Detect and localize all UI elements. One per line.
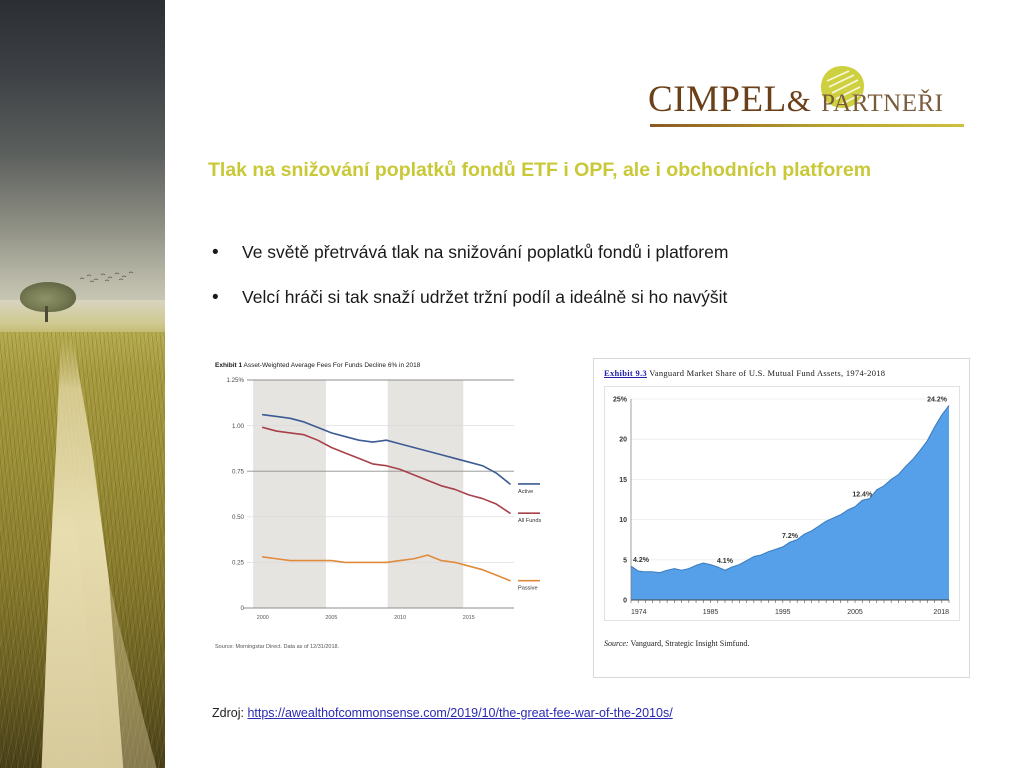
charts-row: Exhibit 1 Asset-Weighted Average Fees Fo… [215, 362, 970, 687]
source-line: Zdroj: https://awealthofcommonsense.com/… [212, 706, 673, 720]
svg-text:Passive: Passive [518, 586, 538, 592]
svg-text:2005: 2005 [847, 609, 863, 616]
chart-exhibit-9-3: Exhibit 9.3 Vanguard Market Share of U.S… [593, 358, 970, 678]
svg-text:2010: 2010 [394, 615, 406, 621]
tree-icon [20, 282, 76, 312]
svg-text:4.2%: 4.2% [633, 557, 650, 564]
bullet-text: Velcí hráči si tak snaží udržet tržní po… [242, 287, 727, 309]
logo-text: CIMPEL& PARTNEŘI [648, 78, 944, 121]
chart-left-title: Exhibit 1 Asset-Weighted Average Fees Fo… [215, 362, 570, 369]
page-title: Tlak na snižování poplatků fondů ETF i O… [208, 156, 908, 184]
svg-text:1995: 1995 [775, 609, 791, 616]
chart-right-title: Exhibit 9.3 Vanguard Market Share of U.S… [604, 367, 959, 380]
svg-text:2005: 2005 [325, 615, 337, 621]
chart-right-plot: 0510152025%197419851995200520184.2%4.1%7… [604, 386, 960, 621]
divider-stripe-3 [180, 0, 185, 768]
svg-text:1.25%: 1.25% [226, 377, 244, 384]
svg-text:1.00: 1.00 [232, 423, 245, 430]
logo-name-main: CIMPEL [648, 79, 787, 120]
svg-text:0: 0 [623, 597, 627, 604]
svg-text:2015: 2015 [463, 615, 475, 621]
svg-text:5: 5 [623, 557, 627, 564]
chart-right-exhibit-label: Exhibit 9.3 [604, 368, 647, 378]
list-item: • Ve světě přetrvává tlak na snižování p… [208, 242, 948, 265]
svg-text:15: 15 [619, 477, 627, 484]
chart-right-title-text: Vanguard Market Share of U.S. Mutual Fun… [649, 368, 885, 378]
chart-left-svg: 00.250.500.751.001.25%2000200520102015Ac… [215, 372, 570, 630]
bullet-list: • Ve světě přetrvává tlak na snižování p… [208, 242, 948, 332]
chart-left-plot: 00.250.500.751.001.25%2000200520102015Ac… [215, 372, 570, 630]
svg-text:2018: 2018 [933, 609, 949, 616]
svg-text:0.50: 0.50 [232, 514, 245, 521]
source-link[interactable]: https://awealthofcommonsense.com/2019/10… [247, 706, 672, 720]
bullet-text: Ve světě přetrvává tlak na snižování pop… [242, 242, 728, 264]
logo-ampersand: & [787, 83, 812, 118]
logo-name-sub: PARTNEŘI [821, 90, 943, 117]
company-logo: CIMPEL& PARTNEŘI [648, 72, 968, 134]
svg-text:10: 10 [619, 517, 627, 524]
chart-right-svg: 0510152025%197419851995200520184.2%4.1%7… [605, 387, 959, 620]
divider-stripe-2 [172, 0, 176, 768]
svg-text:12.4%: 12.4% [852, 491, 873, 498]
decorative-photo-band [0, 0, 165, 768]
chart-left-source: Source: Morningstar Direct. Data as of 1… [215, 644, 570, 650]
bullet-marker-icon: • [208, 287, 242, 310]
svg-text:25%: 25% [613, 396, 628, 403]
svg-text:7.2%: 7.2% [782, 533, 799, 540]
chart-left-title-text: Asset-Weighted Average Fees For Funds De… [244, 362, 421, 369]
svg-text:4.1%: 4.1% [717, 558, 734, 565]
svg-text:0.75: 0.75 [232, 468, 245, 475]
svg-text:1974: 1974 [631, 609, 647, 616]
bullet-marker-icon: • [208, 242, 242, 265]
svg-text:Active: Active [518, 489, 533, 495]
svg-text:20: 20 [619, 436, 627, 443]
tree-trunk [45, 306, 48, 322]
chart-right-source-text: Vanguard, Strategic Insight Simfund. [630, 639, 749, 648]
svg-text:2000: 2000 [257, 615, 269, 621]
source-label: Zdroj: [212, 706, 244, 720]
birds-icon [78, 270, 138, 286]
chart-exhibit-1: Exhibit 1 Asset-Weighted Average Fees Fo… [215, 362, 570, 682]
divider-stripe-1 [165, 0, 169, 768]
svg-text:1985: 1985 [703, 609, 719, 616]
svg-text:0: 0 [241, 605, 245, 612]
svg-text:All Funds: All Funds [518, 518, 542, 524]
logo-underline [650, 124, 964, 127]
chart-right-source: Source: Vanguard, Strategic Insight Simf… [604, 639, 959, 648]
chart-right-source-prefix: Source: [604, 639, 629, 648]
svg-text:0.25: 0.25 [232, 560, 245, 567]
chart-left-exhibit-label: Exhibit 1 [215, 362, 242, 369]
svg-text:24.2%: 24.2% [927, 396, 948, 403]
list-item: • Velcí hráči si tak snaží udržet tržní … [208, 287, 948, 310]
slide: CIMPEL& PARTNEŘI Tlak na snižování popla… [0, 0, 1024, 768]
